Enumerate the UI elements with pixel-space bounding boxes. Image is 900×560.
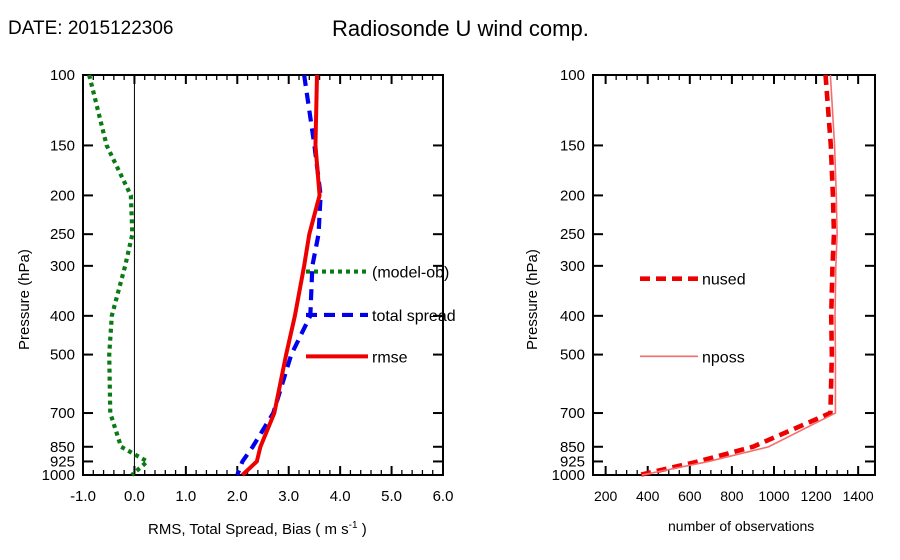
y-tick-label: 1000 [552, 467, 585, 484]
x-tick-label: 2.0 [227, 488, 248, 505]
right-plot-group: 2004006008001000120014001001502002503004… [552, 67, 875, 504]
y-tick-label: 300 [50, 258, 75, 275]
y-tick-label: 250 [50, 226, 75, 243]
legend-label-nused: nused [702, 272, 746, 289]
x-tick-label: 400 [636, 488, 660, 504]
chart-canvas: -1.00.01.02.03.04.05.06.0100150200250300… [0, 0, 900, 560]
y-tick-label: 150 [50, 137, 75, 154]
y-tick-label: 700 [50, 405, 75, 422]
y-tick-label: 100 [560, 67, 585, 84]
y-tick-label: 300 [560, 258, 585, 275]
y-tick-label: 500 [50, 347, 75, 364]
y-tick-label: 400 [50, 308, 75, 325]
series-line-totalspread [237, 75, 320, 475]
y-tick-label: 200 [560, 187, 585, 204]
chart-page: DATE: 2015122306 Radiosonde U wind comp.… [0, 0, 900, 560]
x-tick-label: 6.0 [433, 488, 454, 505]
x-tick-label: 1200 [800, 488, 831, 504]
series-line-modelob [89, 75, 147, 475]
x-tick-label: 5.0 [381, 488, 402, 505]
left-plot-group: -1.00.01.02.03.04.05.06.0100150200250300… [42, 67, 456, 505]
y-tick-label: 100 [50, 67, 75, 84]
x-tick-label: 3.0 [278, 488, 299, 505]
legend-label-totalspread: total spread [372, 308, 456, 325]
legend-label-rmse: rmse [372, 349, 408, 366]
x-tick-label: -1.0 [70, 488, 96, 505]
series-line-rmse [242, 75, 319, 475]
legend-label-modelob: (model-ob) [372, 265, 449, 282]
y-tick-label: 700 [560, 405, 585, 422]
x-tick-label: 4.0 [330, 488, 351, 505]
x-tick-label: 800 [720, 488, 744, 504]
y-tick-label: 200 [50, 187, 75, 204]
y-tick-label: 250 [560, 226, 585, 243]
x-tick-label: 1.0 [175, 488, 196, 505]
y-tick-label: 150 [560, 137, 585, 154]
y-tick-label: 400 [560, 308, 585, 325]
x-tick-label: 200 [594, 488, 618, 504]
x-tick-label: 0.0 [124, 488, 145, 505]
y-tick-label: 500 [560, 347, 585, 364]
x-tick-label: 600 [678, 488, 702, 504]
legend-label-nposs: nposs [702, 349, 745, 366]
y-tick-label: 1000 [42, 467, 75, 484]
x-tick-label: 1000 [758, 488, 789, 504]
x-tick-label: 1400 [843, 488, 874, 504]
